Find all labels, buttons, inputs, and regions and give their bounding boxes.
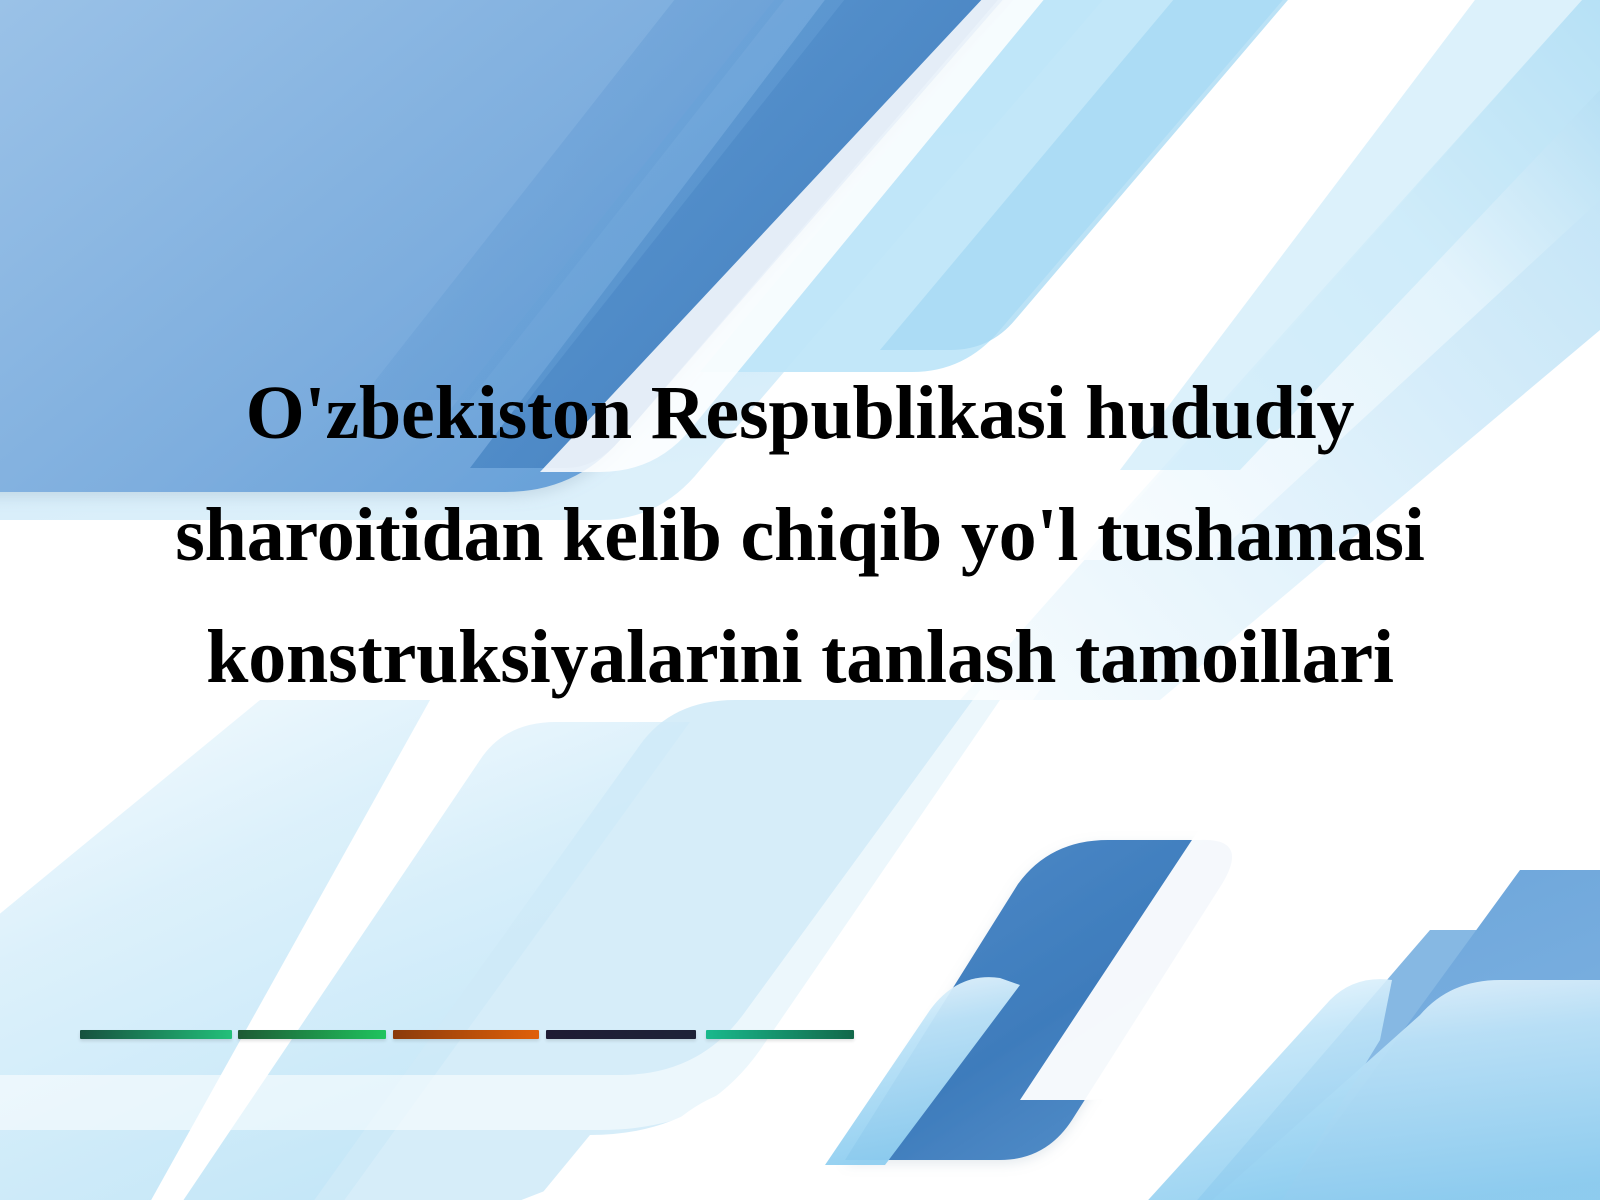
accent-bar-row: [0, 1030, 1600, 1050]
title-line-2: sharoitidan kelib chiqib yo'l tushamasi: [0, 474, 1600, 596]
bar-1: [80, 1030, 232, 1039]
presentation-slide: O'zbekiston Respublikasi hududiy sharoit…: [0, 0, 1600, 1200]
title-line-3: konstruksiyalarini tanlash tamoillari: [0, 596, 1600, 718]
title-line-1: O'zbekiston Respublikasi hududiy: [0, 352, 1600, 474]
bar-4: [546, 1030, 696, 1039]
slide-title: O'zbekiston Respublikasi hududiy sharoit…: [0, 352, 1600, 718]
bar-2: [238, 1030, 386, 1039]
bar-5: [706, 1030, 854, 1039]
bar-3: [393, 1030, 539, 1039]
